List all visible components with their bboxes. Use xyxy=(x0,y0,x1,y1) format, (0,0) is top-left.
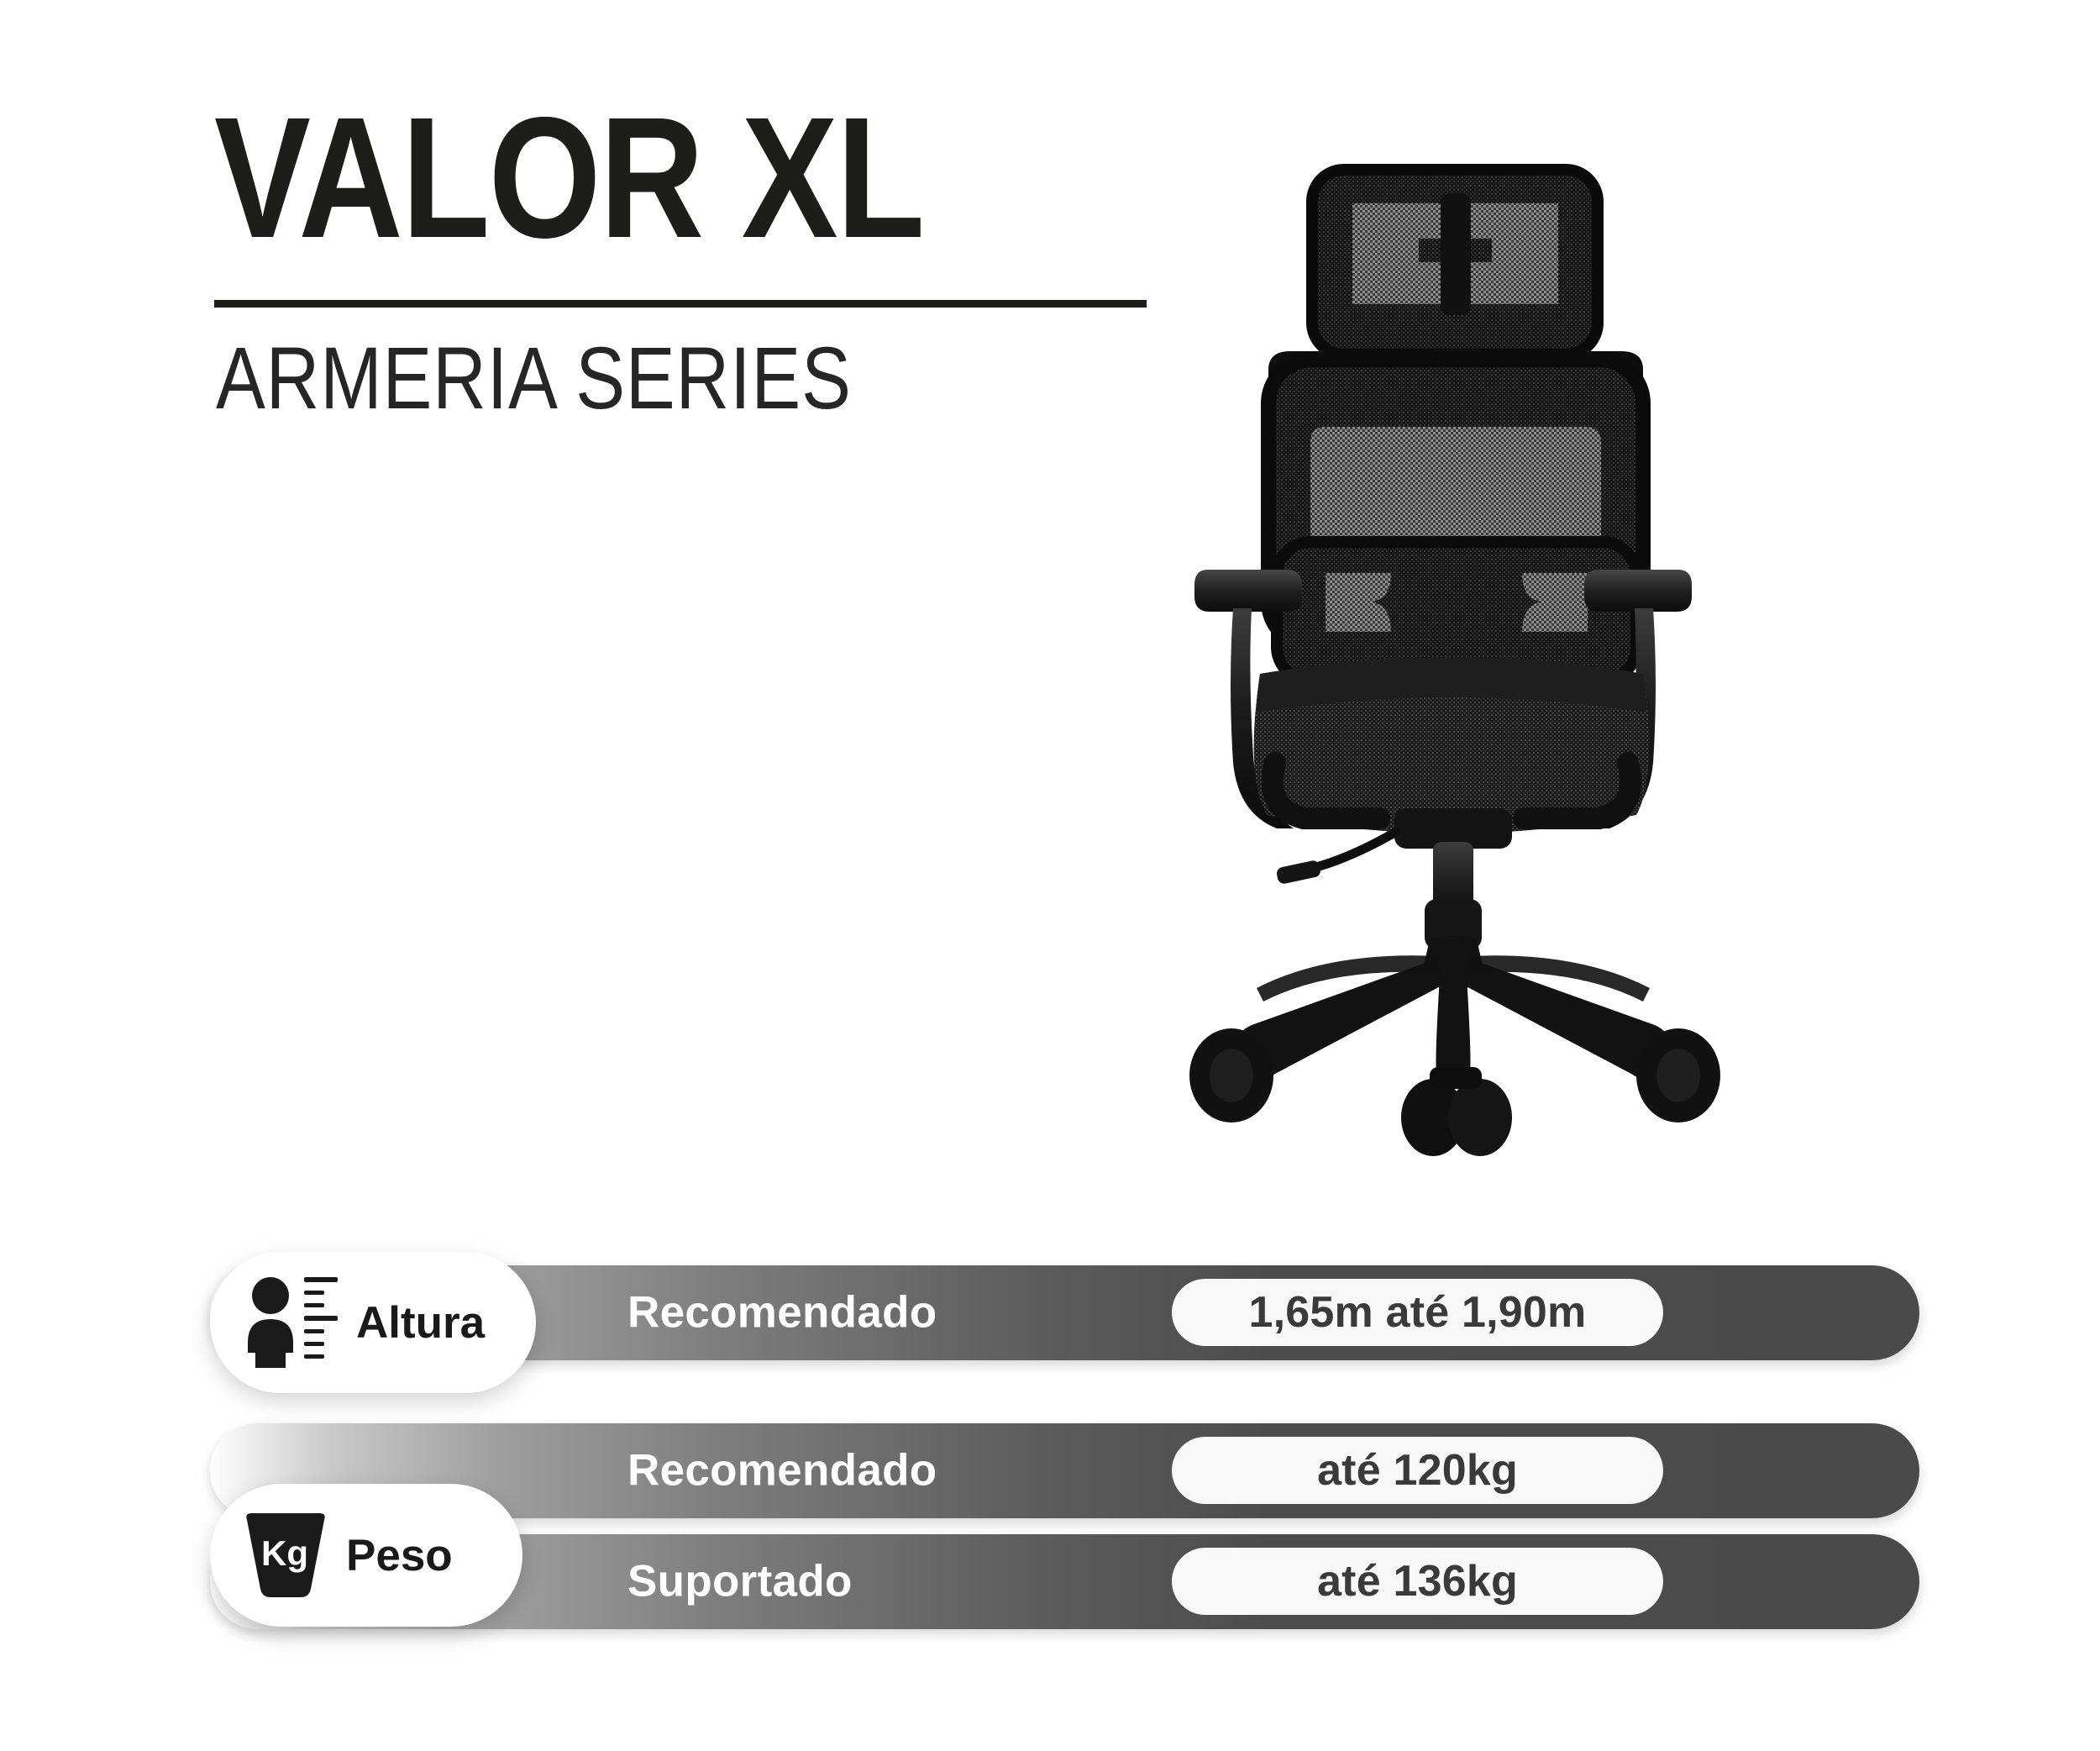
spec-row-value: 1,65m até 1,90m xyxy=(1249,1287,1587,1338)
spec-pill-peso: Kg Peso xyxy=(210,1484,522,1627)
spec-row-value-pill: até 120kg xyxy=(1172,1437,1663,1504)
page-title: VALOR XL xyxy=(214,99,1061,258)
spec-pill-label: Altura xyxy=(356,1297,485,1349)
spec-pill-altura: Altura xyxy=(210,1252,536,1393)
spec-row-value-pill: até 136kg xyxy=(1172,1548,1663,1615)
product-image xyxy=(1151,160,1831,1159)
spec-row-value: até 120kg xyxy=(1317,1445,1518,1496)
title-divider xyxy=(214,300,1147,308)
spec-row-value: até 136kg xyxy=(1317,1556,1518,1606)
spec-group-altura: Recomendado 1,65m até 1,90m xyxy=(210,1232,1919,1404)
kg-weight-icon: Kg xyxy=(239,1512,333,1599)
product-spec-card: VALOR XL ARMERIA SERIES xyxy=(0,0,2100,1751)
spec-section: Recomendado 1,65m até 1,90m xyxy=(0,1210,2100,1680)
office-chair-illustration xyxy=(1151,160,1831,1159)
kg-icon-text: Kg xyxy=(261,1533,308,1573)
spec-row-label: Suportado xyxy=(627,1556,853,1607)
series-subtitle: ARMERIA SERIES xyxy=(216,334,852,423)
chair-base xyxy=(1237,935,1670,1078)
title-block: VALOR XL xyxy=(214,99,1222,258)
spec-row-label: Recomendado xyxy=(627,1287,937,1338)
spec-group-peso: Recomendado até 120kg Suportado até 136k… xyxy=(210,1420,1919,1672)
chair-headrest xyxy=(1312,170,1598,355)
spec-row-value-pill: 1,65m até 1,90m xyxy=(1172,1279,1663,1346)
spec-row-label: Recomendado xyxy=(627,1445,937,1496)
spec-pill-label: Peso xyxy=(346,1530,453,1581)
chair-seat xyxy=(1254,657,1650,833)
person-height-ruler-icon xyxy=(242,1275,343,1370)
